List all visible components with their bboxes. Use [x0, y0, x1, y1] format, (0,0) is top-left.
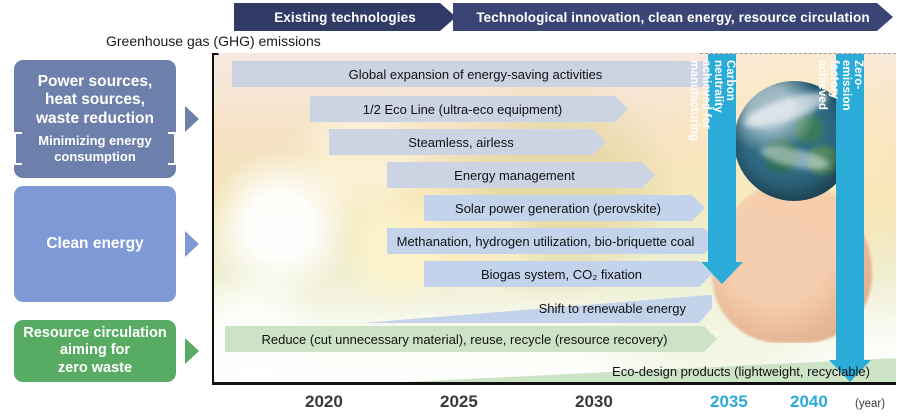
category-power-line2: heat sources,	[36, 91, 154, 110]
phase-banner-existing-label: Existing technologies	[274, 10, 416, 25]
category-power-line1: Power sources,	[36, 73, 154, 92]
category-resource-line2: aiming for	[23, 342, 166, 359]
category-clean-title: Clean energy	[46, 235, 143, 254]
roadmap-bar-eco-design-products: Eco-design products (lightweight, recycl…	[342, 357, 896, 385]
roadmap-bar-biogas-system: Biogas system, CO₂ fixation	[424, 261, 712, 287]
y-axis-line	[212, 53, 214, 385]
category-box-power-sources: Power sources, heat sources, waste reduc…	[14, 60, 176, 178]
category-power-line3: waste reduction	[36, 110, 154, 129]
roadmap-bar-steamless-airless: Steamless, airless	[329, 129, 606, 155]
x-axis-unit-label: (year)	[855, 398, 885, 410]
category-resource-line3: zero waste	[23, 360, 166, 377]
milestone-arrow-zero-label: Zero-emission factory achieved	[836, 60, 864, 111]
arrow-head-down-icon	[701, 262, 743, 284]
x-tick-2040: 2040	[790, 392, 828, 412]
milestone-arrow-carbon-label: Carbon neutrality achieved for manufactu…	[708, 60, 736, 141]
roadmap-plot-area: Global expansion of energy-saving activi…	[212, 53, 896, 385]
category-box-clean-energy: Clean energy	[14, 186, 176, 302]
roadmap-bar-label: Shift to renewable energy	[539, 301, 712, 316]
category-resource-title: Resource circulation aiming for zero was…	[23, 325, 166, 376]
roadmap-bar-energy-management: Energy management	[387, 162, 655, 188]
phase-banner-innovation-label: Technological innovation, clean energy, …	[476, 10, 869, 25]
category-pointer-clean-icon	[185, 231, 199, 257]
roadmap-bar-label: Global expansion of energy-saving activi…	[349, 67, 616, 82]
roadmap-bar-label: Steamless, airless	[408, 135, 526, 150]
category-pointer-power-icon	[185, 106, 199, 132]
y-axis-title: Greenhouse gas (GHG) emissions	[106, 33, 321, 49]
roadmap-bar-label: Eco-design products (lightweight, recycl…	[612, 364, 896, 379]
x-tick-2020: 2020	[305, 392, 343, 412]
roadmap-bar-label: Energy management	[454, 168, 588, 183]
roadmap-bar-reduce-reuse-recycle: Reduce (cut unnecessary material), reuse…	[225, 326, 717, 352]
category-box-resource-circulation: Resource circulation aiming for zero was…	[14, 320, 176, 382]
y-axis-arrow-icon	[212, 53, 219, 55]
x-axis-line	[212, 382, 896, 385]
x-tick-2025: 2025	[440, 392, 478, 412]
category-power-title: Power sources, heat sources, waste reduc…	[36, 73, 154, 129]
phase-banner-existing-technologies: Existing technologies	[234, 3, 456, 31]
roadmap-bar-eco-line: 1/2 Eco Line (ultra-eco equipment)	[310, 96, 628, 122]
roadmap-bar-label: Reduce (cut unnecessary material), reuse…	[261, 332, 680, 347]
x-tick-2030: 2030	[575, 392, 613, 412]
roadmap-bar-label: Solar power generation (perovskite)	[455, 201, 674, 216]
phase-banner-technological-innovation: Technological innovation, clean energy, …	[453, 3, 893, 31]
roadmap-bar-methanation: Methanation, hydrogen utilization, bio-b…	[387, 228, 717, 254]
roadmap-bar-shift-renewable-energy: Shift to renewable energy	[362, 293, 712, 323]
roadmap-bar-solar-power: Solar power generation (perovskite)	[424, 195, 705, 221]
x-tick-2035: 2035	[710, 392, 748, 412]
roadmap-bar-label: Methanation, hydrogen utilization, bio-b…	[397, 234, 708, 249]
roadmap-bar-global-expansion: Global expansion of energy-saving activi…	[232, 61, 732, 87]
roadmap-bar-label: 1/2 Eco Line (ultra-eco equipment)	[363, 102, 575, 117]
roadmap-bar-label: Biogas system, CO₂ fixation	[481, 267, 655, 282]
category-pointer-resource-icon	[185, 338, 199, 364]
category-resource-line1: Resource circulation	[23, 325, 166, 342]
category-power-bracket-note: Minimizing energy consumption	[14, 132, 176, 165]
